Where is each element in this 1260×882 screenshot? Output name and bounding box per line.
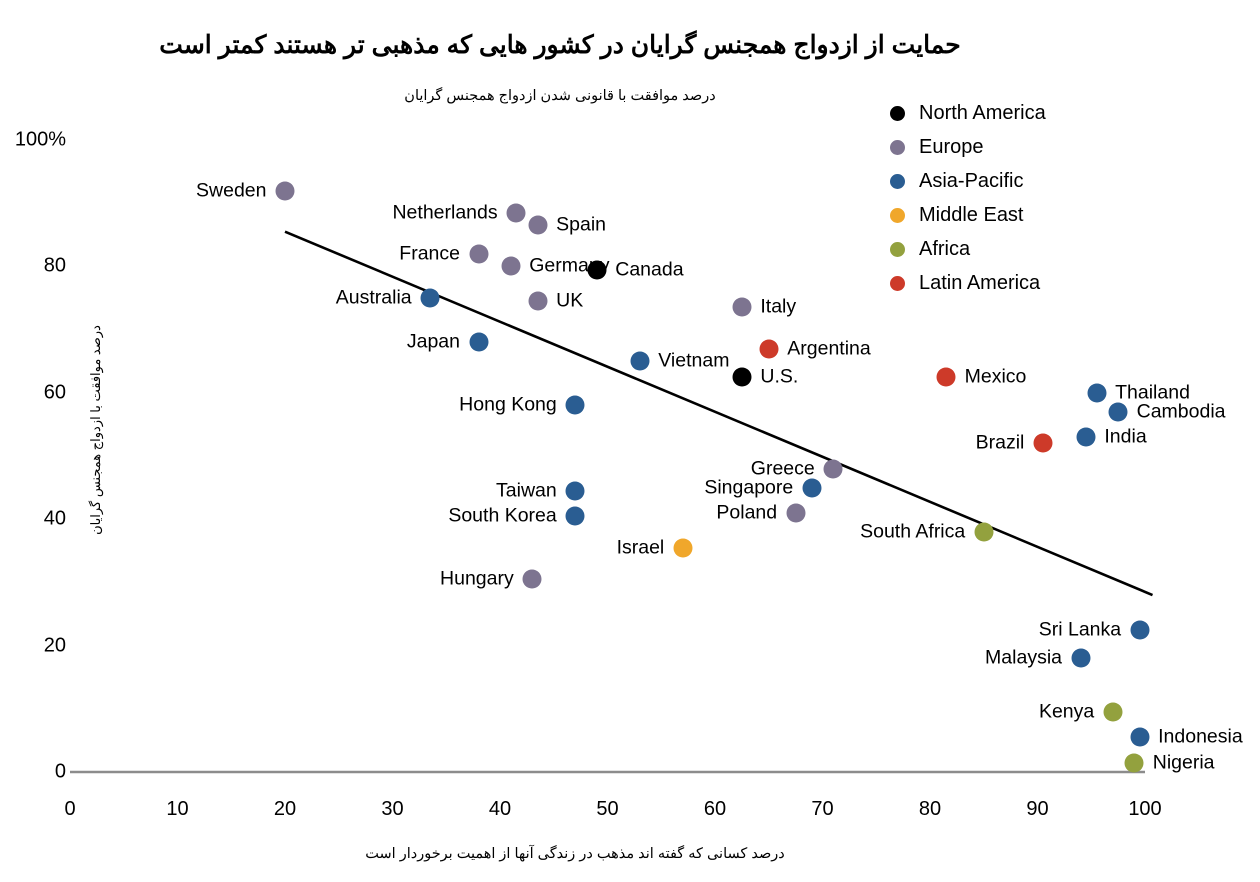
- legend-item-label: North America: [919, 102, 1046, 125]
- data-point-france[interactable]: [469, 244, 488, 263]
- legend-item-africa[interactable]: Africa: [890, 232, 1250, 266]
- data-point-singapore[interactable]: [802, 478, 821, 497]
- legend-item-middle-east[interactable]: Middle East: [890, 198, 1250, 232]
- legend-item-north-america[interactable]: North America: [890, 96, 1250, 130]
- chart-title: حمایت از ازدواج همجنس گرایان در کشور های…: [0, 30, 1120, 61]
- data-point-label: Italy: [760, 296, 796, 319]
- data-point-kenya[interactable]: [1103, 702, 1122, 721]
- data-point-label: Vietnam: [658, 350, 729, 373]
- data-point-india[interactable]: [1076, 428, 1095, 447]
- data-point-label: Cambodia: [1137, 400, 1226, 423]
- data-point-label: Netherlands: [0, 201, 498, 224]
- x-tick-label: 10: [166, 798, 188, 821]
- data-point-thailand[interactable]: [1087, 383, 1106, 402]
- data-point-label: UK: [556, 290, 583, 313]
- data-point-label: Sweden: [0, 179, 267, 202]
- legend-item-label: Latin America: [919, 272, 1040, 295]
- data-point-label: France: [0, 242, 460, 265]
- data-point-south-africa[interactable]: [974, 522, 993, 541]
- data-point-italy[interactable]: [732, 298, 751, 317]
- data-point-label: Brazil: [0, 432, 1024, 455]
- data-point-brazil[interactable]: [1033, 434, 1052, 453]
- data-point-label: India: [1104, 426, 1146, 449]
- data-point-label: Germany: [529, 255, 609, 278]
- data-point-netherlands[interactable]: [507, 203, 526, 222]
- legend-swatch-icon: [890, 242, 905, 257]
- legend-item-label: Middle East: [919, 204, 1024, 227]
- data-point-label: Malaysia: [0, 647, 1062, 670]
- y-tick-label: 100%: [15, 129, 66, 152]
- chart-legend: North AmericaEuropeAsia-PacificMiddle Ea…: [890, 96, 1250, 300]
- data-point-label: Hungary: [0, 568, 514, 591]
- y-tick-label: 0: [55, 761, 66, 784]
- data-point-label: U.S.: [760, 366, 798, 389]
- x-tick-label: 30: [381, 798, 403, 821]
- legend-swatch-icon: [890, 140, 905, 155]
- legend-item-europe[interactable]: Europe: [890, 130, 1250, 164]
- chart-container: حمایت از ازدواج همجنس گرایان در کشور های…: [0, 0, 1260, 882]
- x-tick-label: 100: [1128, 798, 1161, 821]
- legend-item-label: Europe: [919, 136, 984, 159]
- data-point-label: Israel: [0, 536, 664, 559]
- data-point-mexico[interactable]: [937, 368, 956, 387]
- data-point-label: Canada: [615, 258, 683, 281]
- data-point-sri-lanka[interactable]: [1130, 620, 1149, 639]
- data-point-nigeria[interactable]: [1125, 753, 1144, 772]
- data-point-hungary[interactable]: [523, 570, 542, 589]
- y-axis-label: درصد موافقت با ازدواج همجنس گرایان: [88, 325, 104, 535]
- x-tick-label: 0: [64, 798, 75, 821]
- data-point-label: Spain: [556, 214, 606, 237]
- data-point-japan[interactable]: [469, 333, 488, 352]
- data-point-uk[interactable]: [528, 292, 547, 311]
- data-point-label: Taiwan: [0, 479, 557, 502]
- x-tick-label: 90: [1026, 798, 1048, 821]
- x-tick-label: 50: [596, 798, 618, 821]
- x-axis-label: درصد کسانی که گفته اند مذهب در زندگی آنه…: [0, 846, 1150, 862]
- x-tick-label: 80: [919, 798, 941, 821]
- y-tick-label: 60: [44, 381, 66, 404]
- data-point-label: Argentina: [787, 337, 870, 360]
- legend-item-asia-pacific[interactable]: Asia-Pacific: [890, 164, 1250, 198]
- data-point-label: Sri Lanka: [0, 618, 1121, 641]
- data-point-label: Australia: [0, 287, 412, 310]
- data-point-label: Japan: [0, 331, 460, 354]
- y-tick-label: 40: [44, 508, 66, 531]
- legend-swatch-icon: [890, 208, 905, 223]
- data-point-greece[interactable]: [824, 459, 843, 478]
- data-point-label: Kenya: [0, 700, 1094, 723]
- data-point-australia[interactable]: [421, 289, 440, 308]
- legend-item-label: Asia-Pacific: [919, 170, 1023, 193]
- x-tick-label: 20: [274, 798, 296, 821]
- legend-swatch-icon: [890, 106, 905, 121]
- legend-item-label: Africa: [919, 238, 970, 261]
- data-point-u-s-[interactable]: [732, 368, 751, 387]
- data-point-argentina[interactable]: [759, 339, 778, 358]
- legend-item-latin-america[interactable]: Latin America: [890, 266, 1250, 300]
- x-tick-label: 60: [704, 798, 726, 821]
- data-point-germany[interactable]: [501, 257, 520, 276]
- data-point-hong-kong[interactable]: [566, 396, 585, 415]
- data-point-vietnam[interactable]: [630, 352, 649, 371]
- x-tick-label: 70: [811, 798, 833, 821]
- y-tick-label: 20: [44, 634, 66, 657]
- legend-swatch-icon: [890, 174, 905, 189]
- data-point-label: Nigeria: [1153, 751, 1215, 774]
- data-point-label: Mexico: [965, 366, 1027, 389]
- data-point-malaysia[interactable]: [1071, 649, 1090, 668]
- x-tick-label: 40: [489, 798, 511, 821]
- legend-swatch-icon: [890, 276, 905, 291]
- data-point-label: Hong Kong: [0, 394, 557, 417]
- data-point-indonesia[interactable]: [1130, 728, 1149, 747]
- data-point-label: Indonesia: [1158, 726, 1243, 749]
- data-point-spain[interactable]: [528, 216, 547, 235]
- y-tick-label: 80: [44, 255, 66, 278]
- data-point-cambodia[interactable]: [1109, 402, 1128, 421]
- data-point-sweden[interactable]: [276, 181, 295, 200]
